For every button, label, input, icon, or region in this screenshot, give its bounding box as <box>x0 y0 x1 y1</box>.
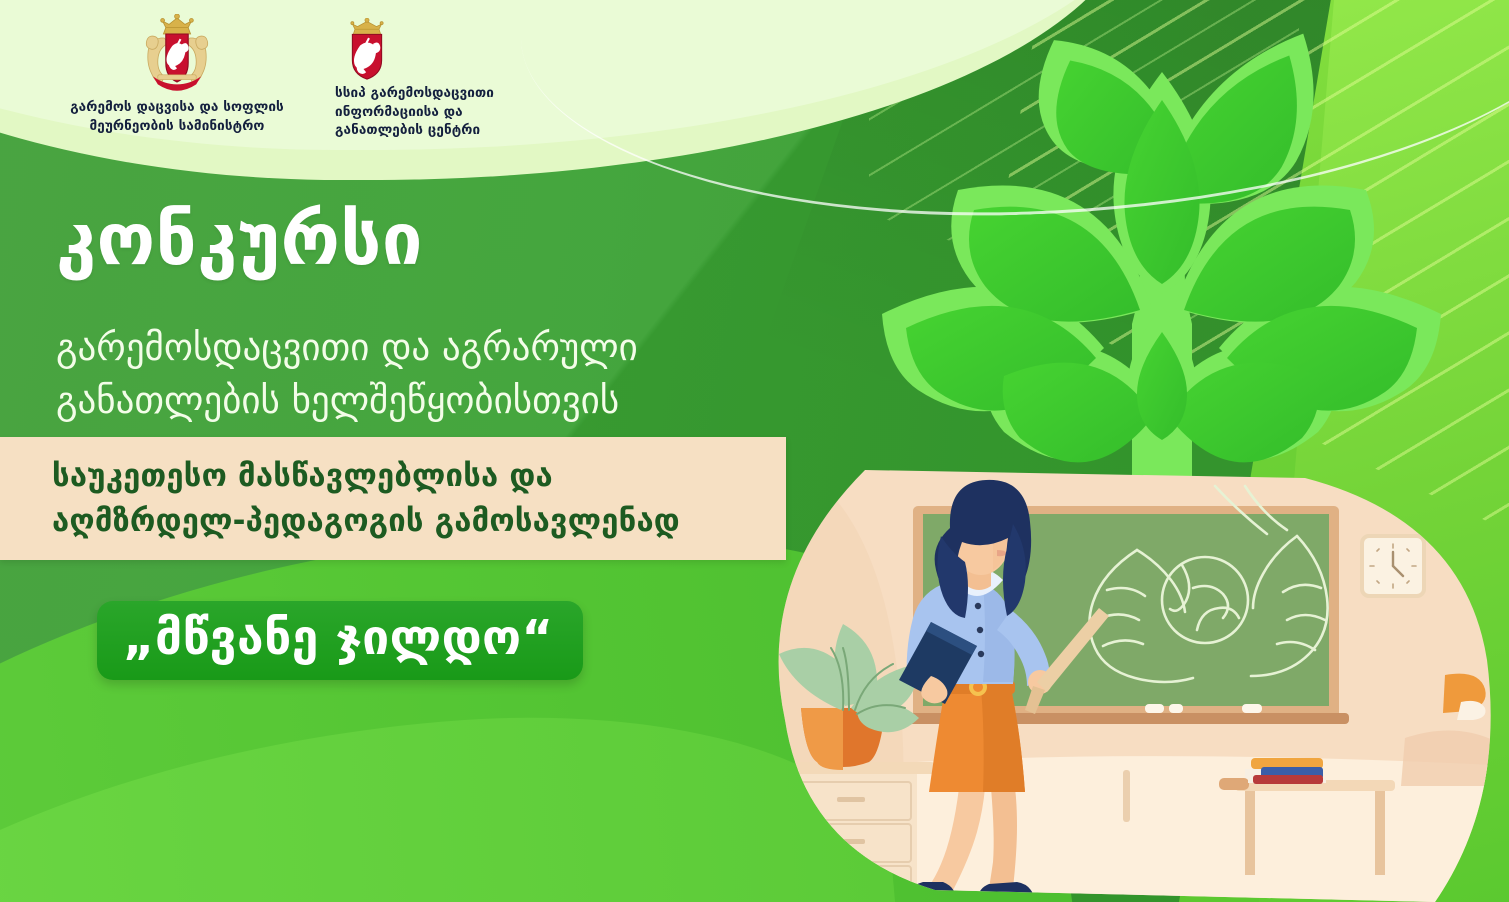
page-subtitle-line1: გარემოსდაცვითი და აგრარული <box>56 322 816 375</box>
georgia-coat-of-arms-icon <box>137 14 217 94</box>
center-logo-block: სსიპ გარემოსდაცვითი ინფორმაციისა და განა… <box>335 18 595 140</box>
ministry-logo-label: გარემოს დაცვისა და სოფლის მეურნეობის სამ… <box>52 98 302 135</box>
ministry-logo-label-line2: მეურნეობის სამინისტრო <box>52 117 302 136</box>
highlight-banner-line2: აღმზრდელ-პედაგოგის გამოსავლენად <box>52 499 772 544</box>
award-badge: „მწვანე ჯილდო“ <box>97 601 583 680</box>
highlight-banner-text: საუკეთესო მასწავლებლისა და აღმზრდელ-პედა… <box>52 454 772 544</box>
ministry-logo-label-line1: გარემოს დაცვისა და სოფლის <box>52 98 302 117</box>
classroom-scene <box>745 470 1509 902</box>
center-logo-label-line3: განათლების ცენტრი <box>335 121 595 140</box>
page-title: კონკურსი <box>56 203 423 275</box>
page-subtitle: გარემოსდაცვითი და აგრარული განათლების ხე… <box>56 322 816 427</box>
center-crest-icon <box>341 18 393 80</box>
center-logo-label-line1: სსიპ გარემოსდაცვითი <box>335 84 595 103</box>
highlight-banner-line1: საუკეთესო მასწავლებლისა და <box>52 454 772 499</box>
center-logo-label-line2: ინფორმაციისა და <box>335 103 595 122</box>
highlight-banner: საუკეთესო მასწავლებლისა და აღმზრდელ-პედა… <box>0 437 786 560</box>
header-logos: გარემოს დაცვისა და სოფლის მეურნეობის სამ… <box>0 0 640 150</box>
poster-canvas: გარემოს დაცვისა და სოფლის მეურნეობის სამ… <box>0 0 1509 902</box>
ministry-logo-block: გარემოს დაცვისა და სოფლის მეურნეობის სამ… <box>52 14 302 135</box>
award-badge-text: „მწვანე ჯილდო“ <box>123 613 553 664</box>
page-subtitle-line2: განათლების ხელშეწყობისთვის <box>56 375 816 428</box>
center-logo-label: სსიპ გარემოსდაცვითი ინფორმაციისა და განა… <box>335 84 595 140</box>
wall-clock <box>1362 536 1424 596</box>
